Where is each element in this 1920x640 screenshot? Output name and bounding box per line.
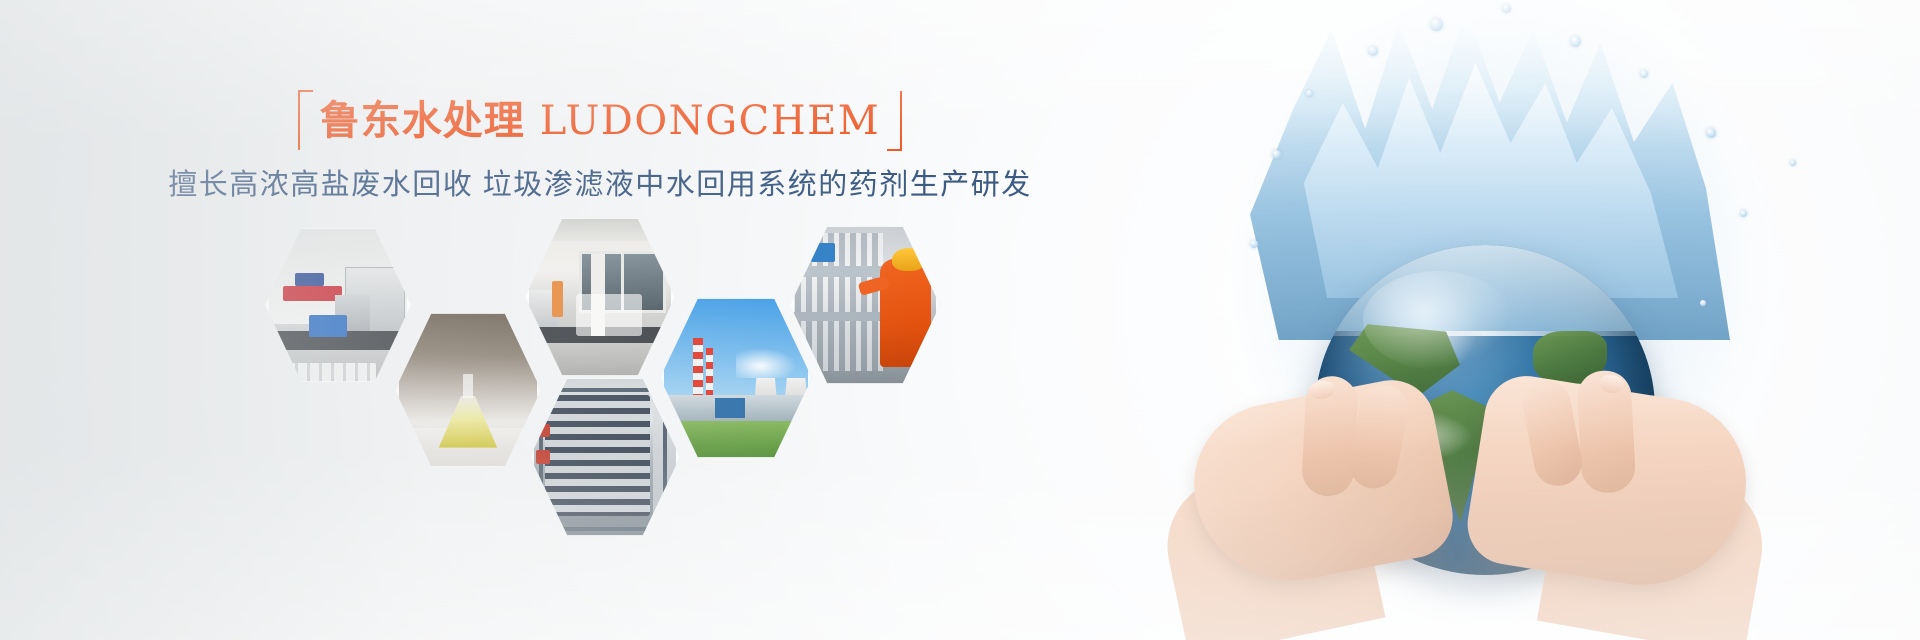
hexagon-photo-cluster bbox=[225, 215, 985, 525]
hex-photo-yellow-liquid-flask bbox=[395, 310, 541, 470]
banner-text-block: 鲁东水处理 LUDONGCHEM 擅长高浓高盐废水回收 垃圾渗滤液中水回用系统的… bbox=[0, 90, 1200, 205]
brand-title-en: LUDONGCHEM bbox=[540, 98, 881, 144]
hex-photo-ro-membrane-skid bbox=[530, 375, 680, 539]
hex-photo-power-plant-cooling-towers bbox=[660, 295, 812, 461]
hex-photo-laboratory-room bbox=[265, 225, 411, 385]
water-splash-globe-in-hands bbox=[1100, 0, 1920, 640]
brand-title-frame: 鲁东水处理 LUDONGCHEM bbox=[298, 90, 902, 151]
safety-helmet-icon bbox=[892, 248, 925, 271]
flask-icon bbox=[439, 374, 497, 448]
hero-banner: 鲁东水处理 LUDONGCHEM 擅长高浓高盐废水回收 垃圾渗滤液中水回用系统的… bbox=[0, 0, 1920, 640]
hex-photo-lab-glassware-bench bbox=[525, 215, 675, 379]
banner-subtitle: 擅长高浓高盐废水回收 垃圾渗滤液中水回用系统的药剂生产研发 bbox=[0, 165, 1200, 205]
page-title: 鲁东水处理 LUDONGCHEM bbox=[320, 97, 880, 145]
hex-photo-worker-orange-uniform bbox=[790, 223, 940, 387]
brand-title-cn: 鲁东水处理 bbox=[320, 97, 525, 144]
